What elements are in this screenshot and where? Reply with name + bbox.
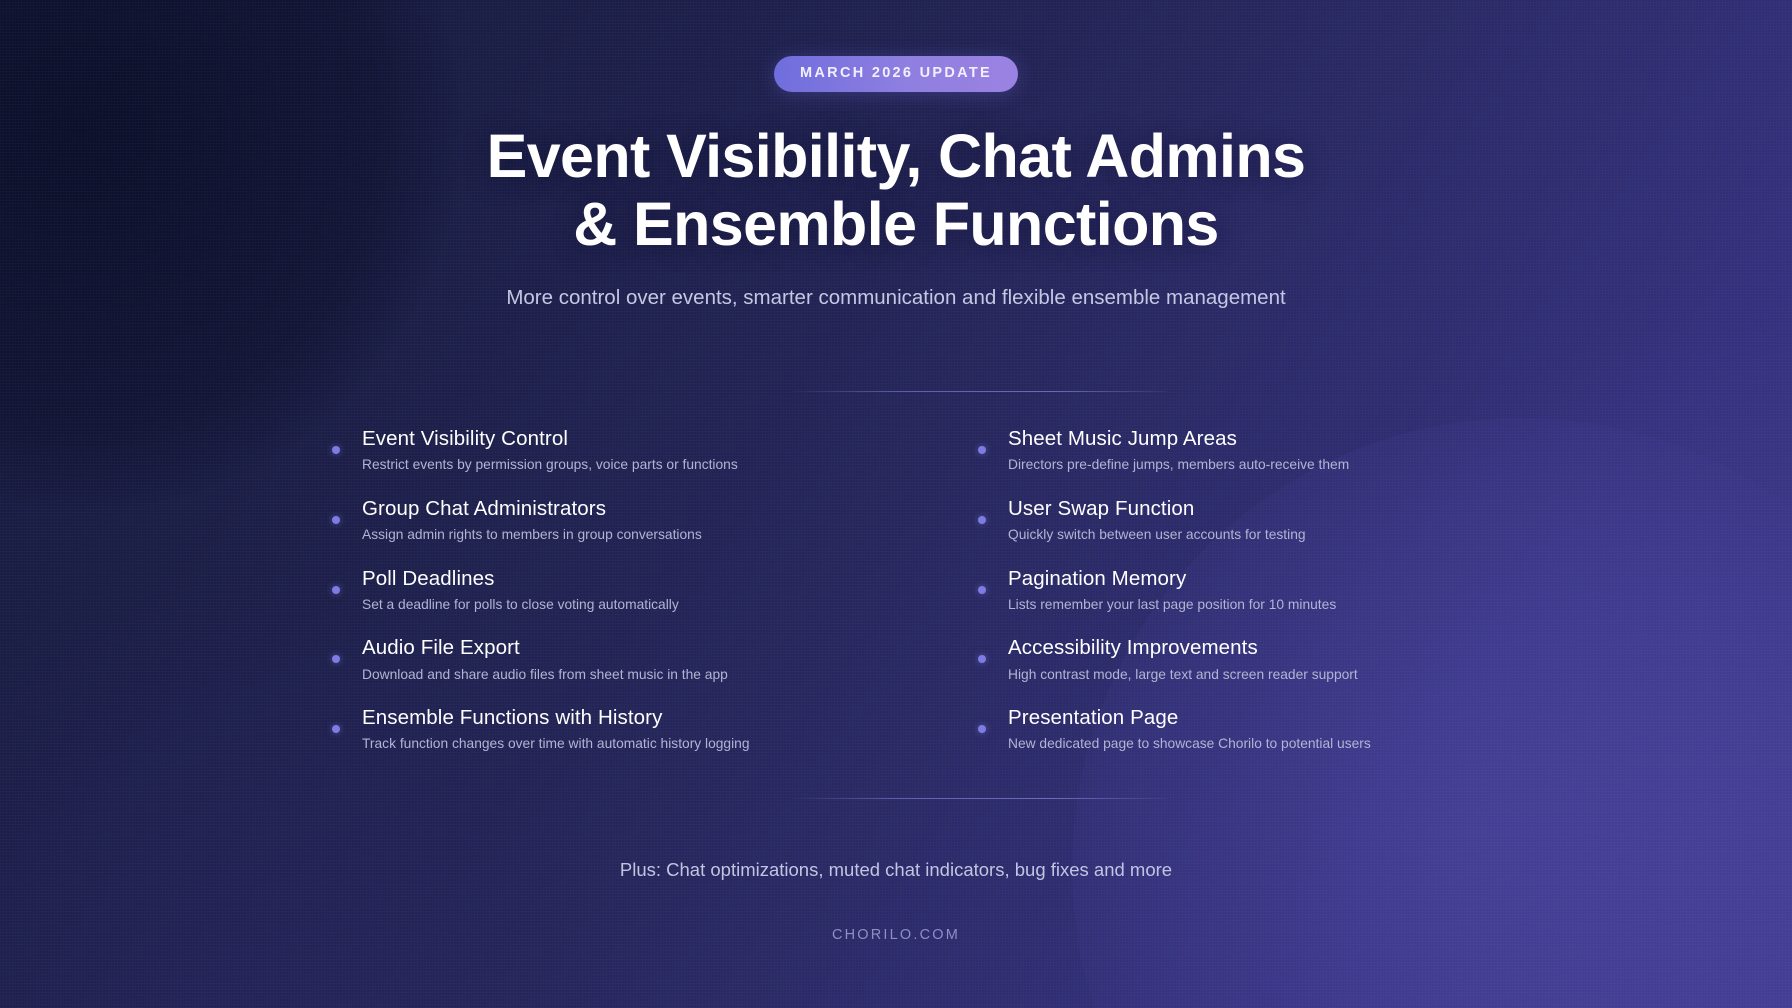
- bullet-dot-icon: [978, 586, 986, 594]
- bullet-dot-icon: [978, 516, 986, 524]
- announcement-graphic: MARCH 2026 UPDATE Event Visibility, Chat…: [0, 0, 1792, 1008]
- feature-title: User Swap Function: [1008, 496, 1476, 522]
- feature-item: Audio File Export Download and share aud…: [316, 635, 830, 684]
- bullet-dot-icon: [332, 516, 340, 524]
- feature-description: Directors pre-define jumps, members auto…: [1008, 456, 1476, 475]
- bullet-dot-icon: [332, 586, 340, 594]
- bullet-dot-icon: [978, 446, 986, 454]
- feature-title: Sheet Music Jump Areas: [1008, 426, 1476, 452]
- page-subtitle: More control over events, smarter commun…: [506, 284, 1285, 313]
- content-container: MARCH 2026 UPDATE Event Visibility, Chat…: [0, 0, 1792, 1008]
- feature-title: Group Chat Administrators: [362, 496, 830, 522]
- feature-list: Event Visibility Control Restrict events…: [316, 426, 1476, 754]
- feature-title: Accessibility Improvements: [1008, 635, 1476, 661]
- headline-line-1: Event Visibility, Chat Admins: [487, 122, 1306, 190]
- divider-top: [793, 391, 1167, 392]
- feature-description: New dedicated page to showcase Chorilo t…: [1008, 735, 1476, 754]
- feature-title: Event Visibility Control: [362, 426, 830, 452]
- update-badge: MARCH 2026 UPDATE: [774, 56, 1018, 92]
- bullet-dot-icon: [332, 446, 340, 454]
- feature-item: Group Chat Administrators Assign admin r…: [316, 496, 830, 545]
- plus-note: Plus: Chat optimizations, muted chat ind…: [620, 859, 1172, 881]
- feature-title: Presentation Page: [1008, 705, 1476, 731]
- feature-item: Pagination Memory Lists remember your la…: [962, 566, 1476, 615]
- feature-item: User Swap Function Quickly switch betwee…: [962, 496, 1476, 545]
- feature-column-right: Sheet Music Jump Areas Directors pre-def…: [962, 426, 1476, 754]
- feature-title: Pagination Memory: [1008, 566, 1476, 592]
- feature-column-left: Event Visibility Control Restrict events…: [316, 426, 830, 754]
- bullet-dot-icon: [332, 725, 340, 733]
- bullet-dot-icon: [978, 725, 986, 733]
- feature-description: Quickly switch between user accounts for…: [1008, 526, 1476, 545]
- feature-description: High contrast mode, large text and scree…: [1008, 666, 1476, 685]
- feature-title: Poll Deadlines: [362, 566, 830, 592]
- feature-description: Assign admin rights to members in group …: [362, 526, 830, 545]
- feature-item: Sheet Music Jump Areas Directors pre-def…: [962, 426, 1476, 475]
- site-url: CHORILO.COM: [832, 927, 960, 943]
- feature-description: Download and share audio files from shee…: [362, 666, 830, 685]
- feature-description: Restrict events by permission groups, vo…: [362, 456, 830, 475]
- feature-title: Ensemble Functions with History: [362, 705, 830, 731]
- feature-description: Track function changes over time with au…: [362, 735, 830, 754]
- divider-bottom: [793, 798, 1167, 799]
- feature-description: Lists remember your last page position f…: [1008, 596, 1476, 615]
- headline-line-2: & Ensemble Functions: [487, 190, 1306, 258]
- feature-title: Audio File Export: [362, 635, 830, 661]
- page-title: Event Visibility, Chat Admins & Ensemble…: [487, 122, 1306, 259]
- bullet-dot-icon: [332, 655, 340, 663]
- feature-item: Ensemble Functions with History Track fu…: [316, 705, 830, 754]
- feature-item: Poll Deadlines Set a deadline for polls …: [316, 566, 830, 615]
- feature-description: Set a deadline for polls to close voting…: [362, 596, 830, 615]
- feature-item: Presentation Page New dedicated page to …: [962, 705, 1476, 754]
- feature-item: Event Visibility Control Restrict events…: [316, 426, 830, 475]
- bullet-dot-icon: [978, 655, 986, 663]
- feature-item: Accessibility Improvements High contrast…: [962, 635, 1476, 684]
